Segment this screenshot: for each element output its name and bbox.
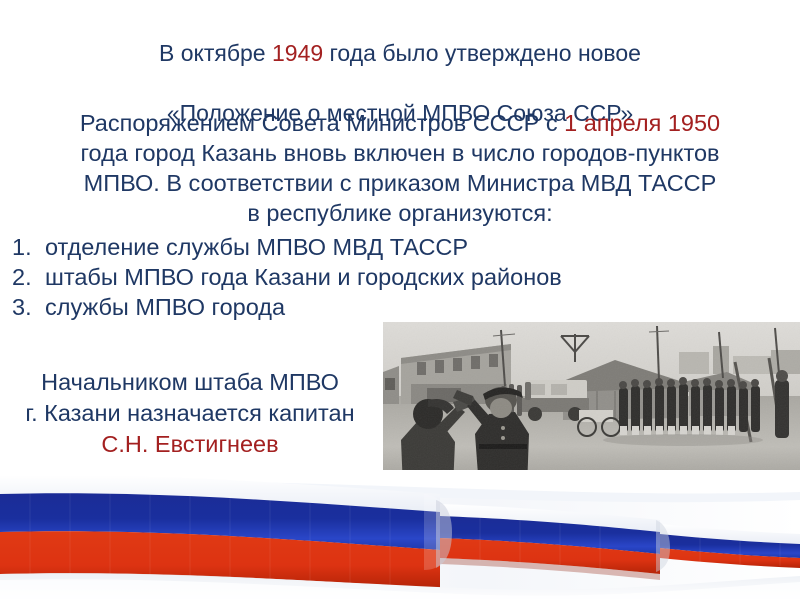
title-line-1-after: года было утверждено новое	[323, 40, 641, 66]
paragraph-line-1: Распоряжением Совета Министров СССР с 1 …	[8, 108, 792, 138]
closing-name-highlight: С.Н. Евстигнеев	[0, 429, 380, 460]
russian-flag-ribbon-graphic	[0, 470, 800, 600]
list-item: 1. отделение службы МПВО МВД ТАССР	[0, 232, 700, 262]
title-line-1: В октябре 1949 года было утверждено ново…	[40, 38, 760, 68]
list-item-number: 3.	[0, 292, 45, 322]
list-item-number: 1.	[0, 232, 45, 262]
title-line-1-before: В октябре	[159, 40, 272, 66]
closing-line-1: Начальником штаба МПВО	[0, 367, 380, 398]
paragraph-date-highlight: 1 апреля 1950	[564, 110, 720, 136]
paragraph-line-2: года город Казань вновь включен в число …	[8, 138, 792, 168]
list-item-label: отделение службы МПВО МВД ТАССР	[45, 232, 700, 262]
russian-flag-ribbon	[0, 470, 800, 600]
closing-paragraph: Начальником штаба МПВО г. Казани назнача…	[0, 367, 380, 460]
numbered-list: 1. отделение службы МПВО МВД ТАССР 2. шт…	[0, 232, 700, 322]
list-item: 3. службы МПВО города	[0, 292, 700, 322]
main-paragraph: Распоряжением Совета Министров СССР с 1 …	[8, 108, 792, 228]
slide-canvas: В октябре 1949 года было утверждено ново…	[0, 0, 800, 600]
historical-photo-graphic	[383, 322, 800, 488]
paragraph-line-4: в республике организуются:	[8, 198, 792, 228]
list-item-number: 2.	[0, 262, 45, 292]
paragraph-line-1-before: Распоряжением Совета Министров СССР с	[80, 110, 564, 136]
list-item: 2. штабы МПВО года Казани и городских ра…	[0, 262, 700, 292]
list-item-label: штабы МПВО года Казани и городских район…	[45, 262, 700, 292]
paragraph-line-3: МПВО. В соответствии с приказом Министра…	[8, 168, 792, 198]
list-item-label: службы МПВО города	[45, 292, 700, 322]
closing-line-2: г. Казани назначается капитан	[0, 398, 380, 429]
historical-photo	[383, 322, 800, 488]
title-year-highlight: 1949	[272, 40, 323, 66]
